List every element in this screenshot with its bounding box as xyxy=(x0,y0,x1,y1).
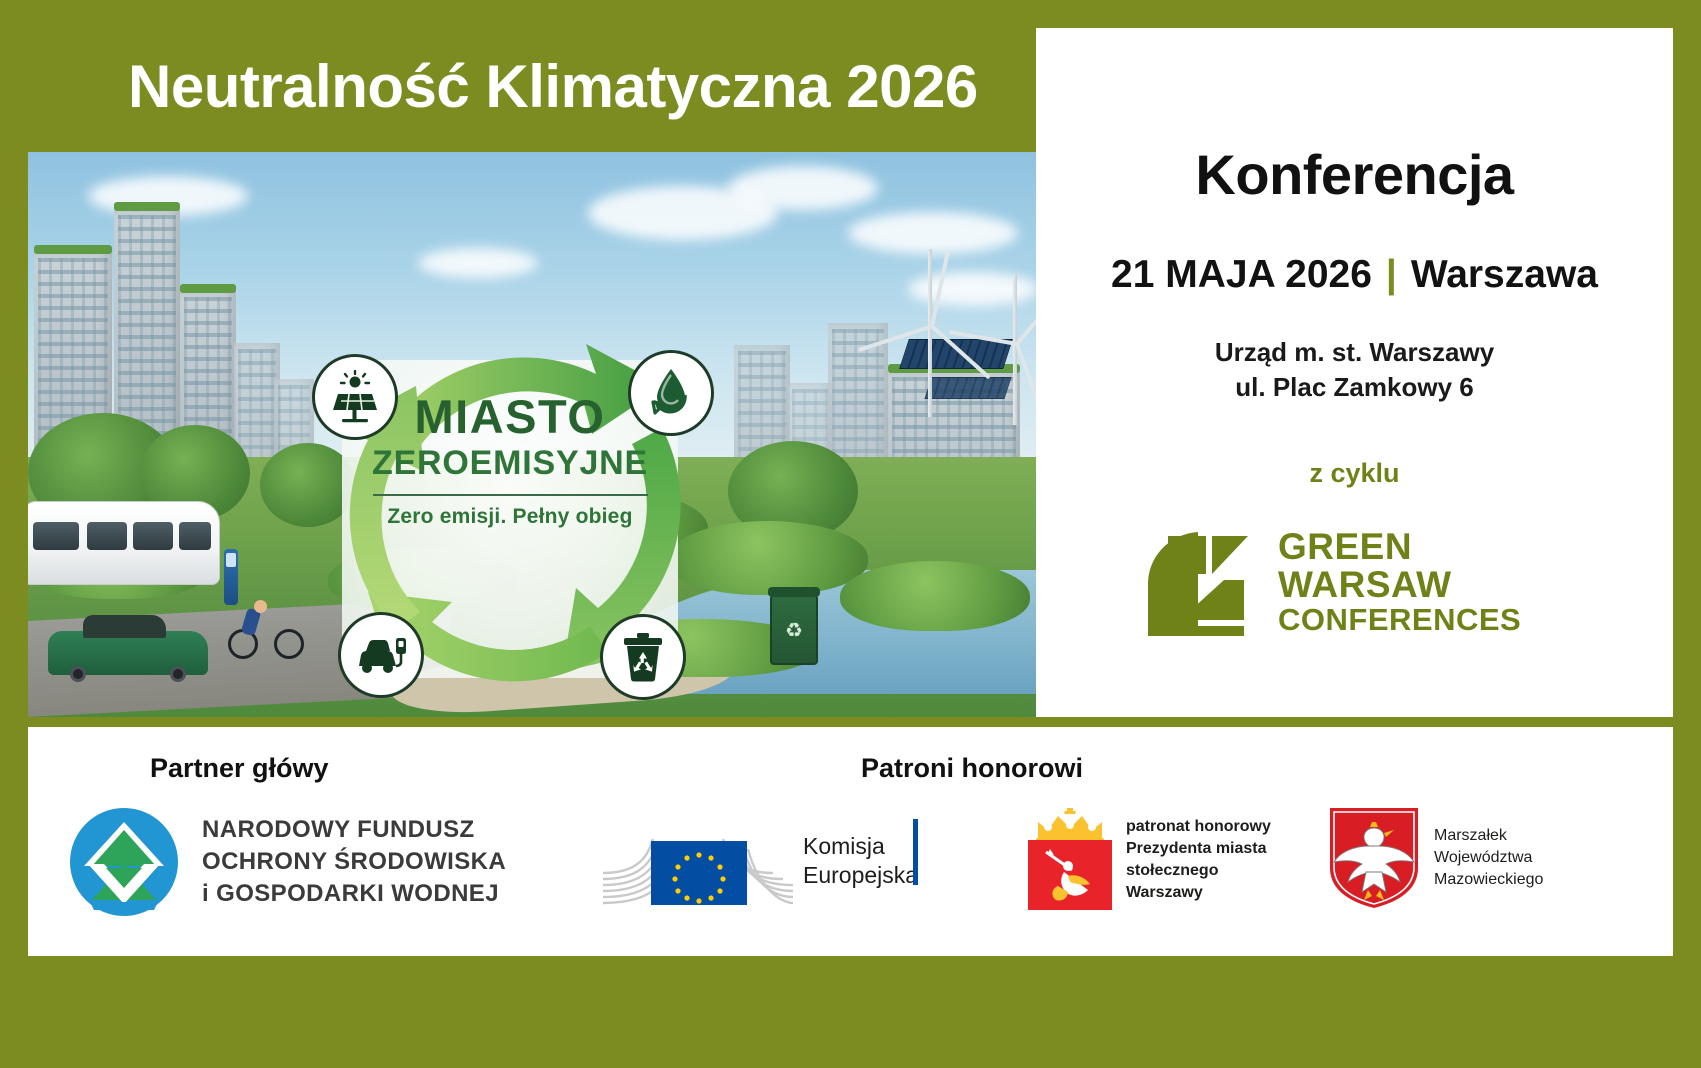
page-title: Neutralność Klimatyczna 2026 xyxy=(128,48,1028,126)
event-date: 21 MAJA 2026 xyxy=(1111,253,1372,296)
ec-line-1: Komisja xyxy=(803,832,918,861)
wind-turbine xyxy=(988,275,1036,425)
venue-line-1: Urząd m. st. Warszawy xyxy=(1036,335,1673,370)
electric-tram xyxy=(28,501,220,585)
warsaw-mermaid-crest xyxy=(1028,808,1112,912)
nfosigw-wordmark: NARODOWY FUNDUSZ OCHRONY ŚRODOWISKA i GO… xyxy=(202,814,506,910)
ec-line-2: Europejska xyxy=(803,861,918,890)
green-car xyxy=(48,631,208,675)
series-label: z cyklu xyxy=(1036,458,1673,489)
details-panel: Konferencja 21 MAJA 2026|Warszawa Urząd … xyxy=(1036,28,1673,717)
mazovia-marshal-text: Marszałek Województwa Mazowieckiego xyxy=(1434,825,1543,891)
nfosigw-line-3: i GOSPODARKI WODNEJ xyxy=(202,878,506,910)
mermaid-icon xyxy=(1038,846,1102,904)
shrub xyxy=(840,561,1030,631)
divider xyxy=(373,494,648,496)
venue-line-2: ul. Plac Zamkowy 6 xyxy=(1036,370,1673,405)
conference-poster: Neutralność Klimatyczna 2026 xyxy=(0,0,1701,1068)
footer-partners-strip: Partner główy Patroni honorowi NARODOWY … xyxy=(28,727,1673,956)
event-type-heading: Konferencja xyxy=(1036,142,1673,207)
eu-flag-mark xyxy=(603,815,793,907)
mazovia-line-1: Marszałek xyxy=(1434,825,1543,847)
gwc-line-1: GREEN xyxy=(1278,528,1521,566)
gwc-line-3: CONFERENCES xyxy=(1278,604,1521,636)
crown-icon xyxy=(1034,808,1106,842)
zero-emission-city-infographic: MIASTO ZEROEMISYJNE Zero emisji. Pełny o… xyxy=(290,300,730,717)
warsaw-line-4: Warszawy xyxy=(1126,882,1271,904)
patrons-section-label: Patroni honorowi xyxy=(861,753,1083,784)
infographic-text: MIASTO ZEROEMISYJNE Zero emisji. Pełny o… xyxy=(290,392,730,529)
infographic-heading: MIASTO xyxy=(290,392,730,442)
eu-stars-icon xyxy=(651,841,747,905)
partner-section-label: Partner główy xyxy=(150,753,329,784)
mazovia-marshal-logo: Marszałek Województwa Mazowieckiego xyxy=(1328,797,1648,919)
recycling-bin: ♻ xyxy=(770,593,818,665)
ev-charging-car-icon xyxy=(338,612,424,698)
infographic-tagline: Zero emisji. Pełny obieg xyxy=(290,505,730,529)
mazovia-line-2: Województwa xyxy=(1434,847,1543,869)
nfosigw-line-1: NARODOWY FUNDUSZ xyxy=(202,814,506,846)
nfosigw-mark-icon xyxy=(68,806,180,918)
warsaw-line-2: Prezydenta miasta xyxy=(1126,838,1271,860)
recycle-symbol-icon: ♻ xyxy=(785,621,803,641)
recycling-bin-icon xyxy=(600,614,686,700)
gwc-line-2: WARSAW xyxy=(1278,566,1521,604)
green-warsaw-conferences-logo: GREEN WARSAW CONFERENCES xyxy=(1140,522,1570,642)
cloud xyxy=(728,166,878,210)
warsaw-red-shield xyxy=(1028,840,1112,910)
ec-wordmark: Komisja Europejska xyxy=(803,832,918,890)
nfosigw-logo: NARODOWY FUNDUSZ OCHRONY ŚRODOWISKA i GO… xyxy=(68,797,538,927)
warsaw-patronage-text: patronat honorowy Prezydenta miasta stoł… xyxy=(1126,816,1271,904)
separator: | xyxy=(1372,253,1411,296)
gwc-leaf-mark-icon xyxy=(1140,528,1256,636)
cloud xyxy=(848,212,1018,254)
european-commission-logo: Komisja Europejska xyxy=(603,805,933,917)
gwc-wordmark: GREEN WARSAW CONFERENCES xyxy=(1278,528,1521,635)
venue-address: Urząd m. st. Warszawy ul. Plac Zamkowy 6 xyxy=(1036,335,1673,405)
cloud xyxy=(418,248,538,278)
nfosigw-line-2: OCHRONY ŚRODOWISKA xyxy=(202,846,506,878)
hero-image: ♻ xyxy=(28,152,1036,717)
warsaw-line-1: patronat honorowy xyxy=(1126,816,1271,838)
warsaw-honorary-patronage-logo: patronat honorowy Prezydenta miasta stoł… xyxy=(1028,795,1328,925)
mazovia-eagle-crest-icon xyxy=(1328,806,1420,910)
date-city-row: 21 MAJA 2026|Warszawa xyxy=(1036,253,1673,297)
mazovia-line-3: Mazowieckiego xyxy=(1434,869,1543,891)
ec-accent-bar xyxy=(913,819,918,885)
event-city: Warszawa xyxy=(1411,253,1598,296)
warsaw-line-3: stołecznego xyxy=(1126,860,1271,882)
infographic-subheading: ZEROEMISYJNE xyxy=(290,442,730,484)
